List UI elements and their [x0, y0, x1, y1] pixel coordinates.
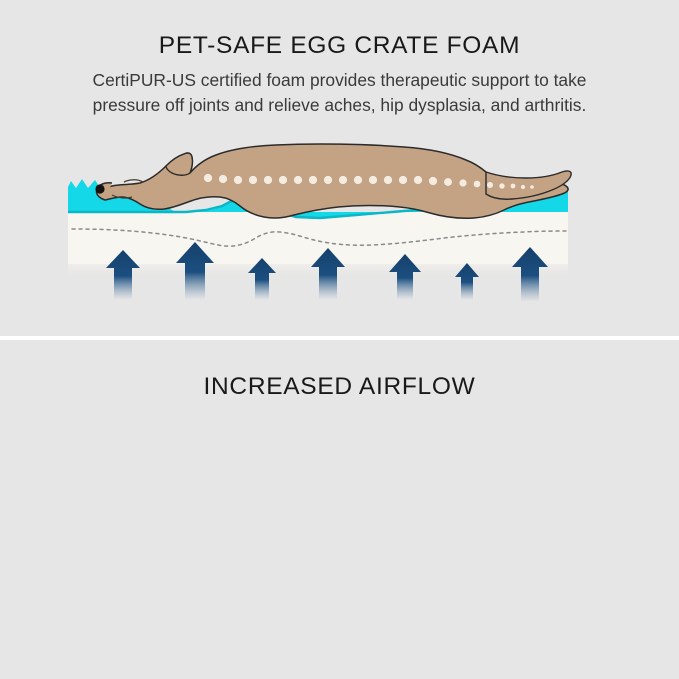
illustration-dog-on-foam-cross-section	[0, 132, 679, 332]
infographic-page: PET-SAFE EGG CRATE FOAM CertiPUR-US cert…	[0, 0, 679, 679]
body-copy-egg-crate-foam: CertiPUR-US certified foam provides ther…	[22, 68, 657, 118]
dog-silhouette-side	[95, 144, 571, 218]
body-copy-line-2: pressure off joints and relieve aches, h…	[22, 93, 657, 118]
dog-eye	[124, 180, 143, 182]
panel-pet-safe-egg-crate-foam: PET-SAFE EGG CRATE FOAM CertiPUR-US cert…	[0, 0, 679, 337]
page-title-increased-airflow: INCREASED AIRFLOW	[0, 373, 679, 401]
support-foam-solid	[68, 212, 568, 264]
dog-nose	[95, 184, 104, 193]
body-copy-line-1: CertiPUR-US certified foam provides ther…	[22, 68, 657, 93]
panel-increased-airflow: INCREASED AIRFLOW	[0, 340, 679, 679]
page-title-egg-crate-foam: PET-SAFE EGG CRATE FOAM	[0, 32, 679, 60]
